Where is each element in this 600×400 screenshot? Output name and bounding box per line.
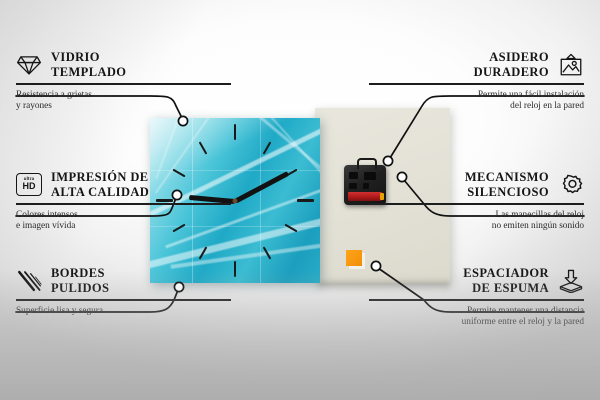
polished-edges-icon — [16, 269, 42, 293]
feature-mecanismo-silencioso[interactable]: MECANISMOSILENCIOSO Las manecillas del r… — [369, 170, 584, 233]
infographic-canvas: VIDRIOTEMPLADO Resistencia a grietasy ra… — [0, 0, 600, 400]
clock-tick-3 — [297, 199, 314, 202]
diamond-icon — [16, 53, 42, 77]
feature-rule — [369, 299, 584, 301]
feature-title: MECANISMOSILENCIOSO — [465, 170, 549, 199]
feature-rule — [16, 203, 231, 205]
feature-impresion-alta-calidad[interactable]: ultra HD IMPRESIÓN DEALTA CALIDAD Colore… — [16, 170, 231, 233]
ultra-hd-icon: ultra HD — [16, 173, 42, 197]
feature-title: IMPRESIÓN DEALTA CALIDAD — [51, 170, 149, 199]
feature-description: Las manecillas del relojno emiten ningún… — [369, 210, 584, 233]
feature-heading: ultra HD IMPRESIÓN DEALTA CALIDAD — [16, 170, 231, 199]
feature-rule — [16, 83, 231, 85]
clock-tick-12 — [234, 124, 236, 140]
feature-asidero-duradero[interactable]: ASIDERODURADERO Permite una fácil instal… — [369, 50, 584, 113]
mechanism-slot — [349, 172, 358, 179]
feature-espaciador-de-espuma[interactable]: ESPACIADORDE ESPUMA Permite mantener una… — [369, 266, 584, 329]
clock-tick-11 — [199, 141, 208, 154]
clock-minute-hand — [234, 171, 289, 204]
feature-description: Permite una fácil instalacióndel reloj e… — [369, 90, 584, 113]
feature-rule — [16, 299, 231, 301]
feature-description: Permite mantener una distanciauniforme e… — [369, 306, 584, 329]
feature-rule — [369, 203, 584, 205]
feature-heading: ASIDERODURADERO — [369, 50, 584, 79]
clock-center-hub — [233, 198, 238, 203]
feature-bordes-pulidos[interactable]: BORDESPULIDOS Superficie lisa y segura — [16, 266, 231, 317]
feature-title: ASIDERODURADERO — [474, 50, 549, 79]
picture-frame-hanger-icon — [558, 53, 584, 77]
glass-pane-line — [260, 118, 261, 283]
clock-tick-6 — [234, 261, 236, 277]
gear-icon — [558, 173, 584, 197]
feature-description: Resistencia a grietasy rayones — [16, 90, 231, 113]
mechanism-slot — [349, 183, 357, 189]
foam-spacer — [346, 250, 362, 266]
feather-streak — [224, 118, 320, 172]
feature-description: Superficie lisa y segura — [16, 306, 231, 318]
feature-title: VIDRIOTEMPLADO — [51, 50, 126, 79]
feature-rule — [369, 83, 584, 85]
feature-heading: VIDRIOTEMPLADO — [16, 50, 231, 79]
foam-spacer-icon — [558, 269, 584, 293]
mechanism-hanger-tab — [357, 158, 377, 169]
feature-vidrio-templado[interactable]: VIDRIOTEMPLADO Resistencia a grietasy ra… — [16, 50, 231, 113]
feature-title: BORDESPULIDOS — [51, 266, 109, 295]
feature-heading: MECANISMOSILENCIOSO — [369, 170, 584, 199]
feature-heading: BORDESPULIDOS — [16, 266, 231, 295]
feature-title: ESPACIADORDE ESPUMA — [463, 266, 549, 295]
feature-description: Colores intensose imagen vívida — [16, 210, 231, 233]
feature-heading: ESPACIADORDE ESPUMA — [369, 266, 584, 295]
